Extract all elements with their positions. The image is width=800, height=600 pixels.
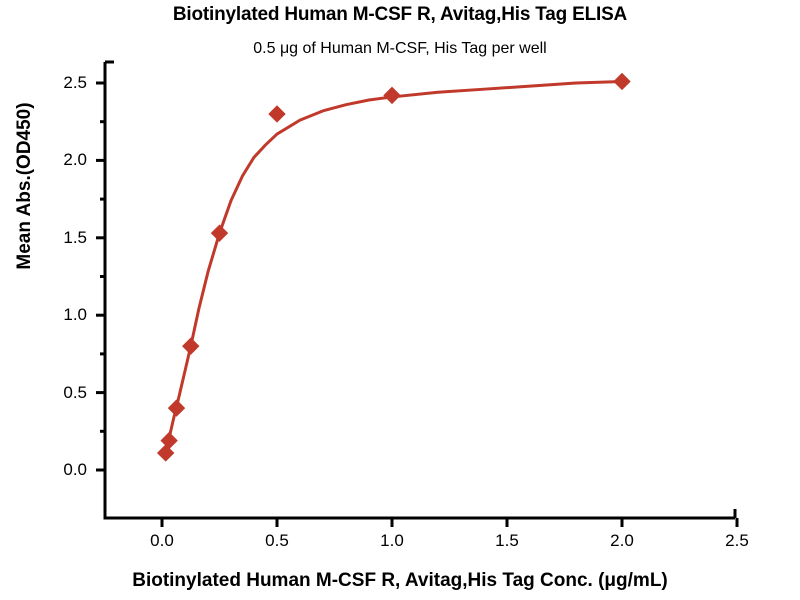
y-tick-label: 0.5	[39, 384, 87, 401]
data-point-marker	[183, 338, 199, 354]
fit-curve	[166, 81, 622, 453]
axes	[96, 62, 737, 527]
y-tick-label: 1.5	[39, 229, 87, 246]
x-tick-label: 0.0	[132, 532, 192, 549]
y-tick-label: 0.0	[39, 461, 87, 478]
chart-container: Biotinylated Human M-CSF R, Avitag,His T…	[0, 0, 800, 600]
data-point-marker	[384, 87, 400, 103]
y-tick-label: 1.0	[39, 306, 87, 323]
data-series	[158, 73, 630, 461]
data-point-marker	[269, 106, 285, 122]
x-tick-label: 1.5	[477, 532, 537, 549]
plot-area	[0, 0, 800, 600]
data-point-marker	[614, 73, 630, 89]
y-tick-label: 2.5	[39, 74, 87, 91]
x-tick-label: 0.5	[247, 532, 307, 549]
x-tick-label: 2.5	[707, 532, 767, 549]
x-tick-label: 2.0	[592, 532, 652, 549]
data-point-marker	[161, 433, 177, 449]
data-point-marker	[158, 445, 174, 461]
data-point-marker	[212, 225, 228, 241]
data-point-marker	[168, 400, 184, 416]
y-tick-label: 2.0	[39, 151, 87, 168]
x-tick-label: 1.0	[362, 532, 422, 549]
